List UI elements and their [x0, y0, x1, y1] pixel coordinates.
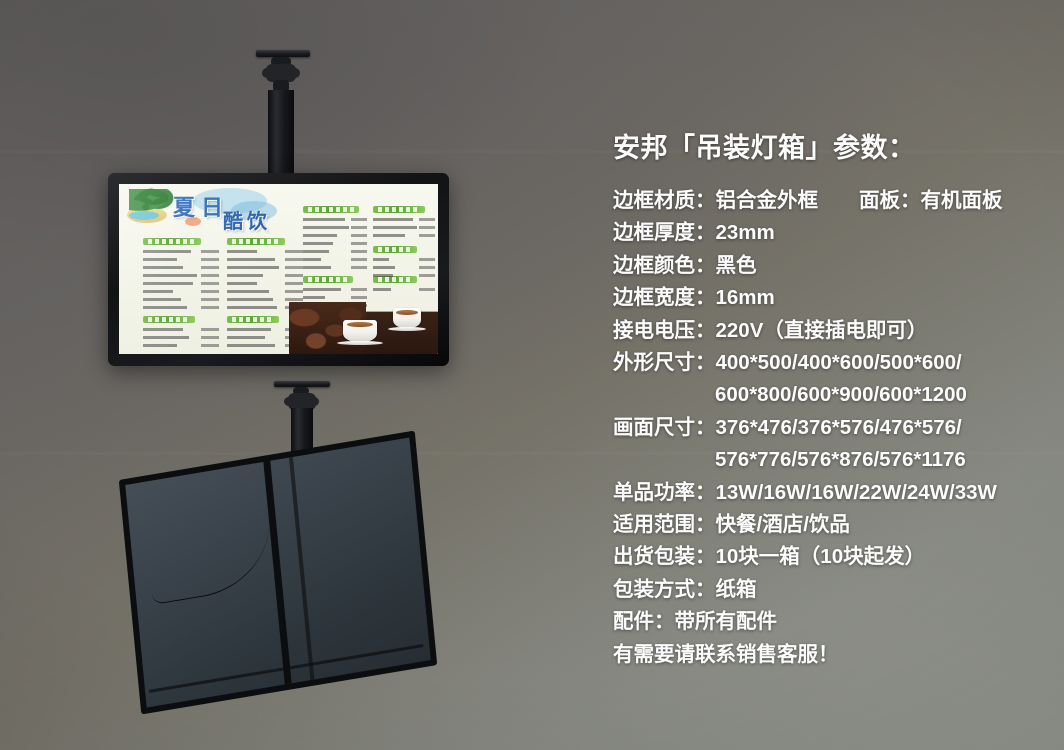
- spec-line: 适用范围：快餐/酒店/饮品: [613, 509, 1033, 541]
- pivot-knob-right: [310, 397, 319, 406]
- menu-item-row: [303, 218, 367, 221]
- menu-artwork: 夏 日 酷 饮: [119, 184, 438, 354]
- menu-section-header: [227, 316, 279, 323]
- spec-line: 外形尺寸：400*500/400*600/500*600/: [613, 347, 1033, 379]
- menu-item-row: [303, 250, 367, 253]
- coffee-cup-back: [393, 308, 421, 328]
- menu-item-row: [143, 328, 219, 331]
- spec-line-list: 边框材质：铝合金外框 面板：有机面板 边框厚度：23mm 边框颜色：黑色 边框宽…: [613, 185, 1033, 671]
- menu-section-header: [373, 206, 425, 213]
- menu-item-row: [227, 258, 303, 261]
- menu-title-char-4: 饮: [247, 205, 267, 234]
- ceiling-plate-icon: [256, 50, 310, 57]
- spec-line: 600*800/600*900/600*1200: [613, 379, 1033, 411]
- menu-item-row: [303, 226, 367, 229]
- spec-line: 包装方式：纸箱: [613, 574, 1033, 606]
- spec-line: 边框材质：铝合金外框 面板：有机面板: [613, 185, 1033, 217]
- menu-section-header: [143, 238, 201, 245]
- menu-item-row: [373, 266, 435, 269]
- menu-display-screen: 夏 日 酷 饮: [119, 184, 438, 354]
- menu-item-row: [227, 298, 303, 301]
- menu-item-row: [373, 258, 435, 261]
- menu-section-header: [303, 276, 353, 283]
- menu-item-row: [303, 242, 367, 245]
- menu-item-row: [303, 296, 367, 299]
- menu-item-row: [227, 250, 303, 253]
- menu-item-row: [227, 266, 303, 269]
- page-title: 安邦「吊装灯箱」参数：: [613, 126, 1033, 165]
- menu-item-row: [373, 226, 435, 229]
- spec-line: 单品功率：13W/16W/16W/22W/24W/33W: [613, 477, 1033, 509]
- spec-line: 边框颜色：黑色: [613, 250, 1033, 282]
- menu-item-row: [143, 274, 219, 277]
- coffee-cup-front: [343, 320, 377, 342]
- menu-item-row: [143, 266, 219, 269]
- menu-item-row: [143, 258, 219, 261]
- menu-item-row: [227, 274, 303, 277]
- menu-item-row: [143, 336, 219, 339]
- menu-section-header: [373, 246, 417, 253]
- pivot-knob-left: [284, 397, 293, 406]
- spec-line: 配件：带所有配件: [613, 606, 1033, 638]
- menu-item-row: [143, 344, 219, 347]
- menu-item-row: [373, 288, 435, 291]
- spec-panel: 安邦「吊装灯箱」参数： 边框材质：铝合金外框 面板：有机面板 边框厚度：23mm…: [613, 126, 1033, 671]
- menu-title-char-2: 日: [201, 190, 223, 222]
- spec-line: 画面尺寸：376*476/376*576/476*576/: [613, 412, 1033, 444]
- menu-section-header: [303, 206, 359, 213]
- decor-dot-orange: [185, 217, 201, 226]
- menu-item-row: [143, 282, 219, 285]
- product-image-canvas: 夏 日 酷 饮: [0, 0, 1064, 750]
- pivot-knob-left: [262, 68, 272, 78]
- menu-section-header: [227, 238, 285, 245]
- saucer-front: [337, 341, 383, 345]
- menu-item-row: [143, 306, 219, 309]
- saucer-back: [388, 327, 426, 331]
- light-box-back-panel: [119, 430, 437, 714]
- spec-line: 有需要请联系销售客服！: [613, 639, 1033, 671]
- spec-line: 出货包装：10块一箱（10块起发）: [613, 541, 1033, 573]
- spec-line: 边框宽度：16mm: [613, 282, 1033, 314]
- menu-item-row: [143, 250, 219, 253]
- menu-item-row: [303, 288, 367, 291]
- pivot-knob-right: [290, 68, 300, 78]
- coffee-photo: [289, 302, 438, 354]
- spec-line: 接电电压：220V（直接插电即可）: [613, 315, 1033, 347]
- telescopic-pole-upper: [268, 90, 294, 186]
- menu-item-row: [227, 290, 303, 293]
- menu-item-row: [373, 234, 435, 237]
- menu-title-char-3: 酷: [223, 205, 243, 234]
- menu-item-row: [373, 218, 435, 221]
- menu-section-header: [373, 276, 417, 283]
- menu-item-row: [227, 282, 303, 285]
- menu-item-row: [143, 298, 219, 301]
- menu-item-row: [373, 274, 435, 277]
- menu-item-row: [143, 290, 219, 293]
- spec-line: 边框厚度：23mm: [613, 217, 1033, 249]
- menu-item-row: [303, 258, 367, 261]
- menu-item-row: [303, 234, 367, 237]
- spec-line: 576*776/576*876/576*1176: [613, 444, 1033, 476]
- menu-title-graphic: 夏 日 酷 饮: [127, 187, 277, 235]
- menu-light-box: 夏 日 酷 饮: [108, 173, 449, 366]
- menu-item-row: [303, 266, 367, 269]
- menu-section-header: [143, 316, 195, 323]
